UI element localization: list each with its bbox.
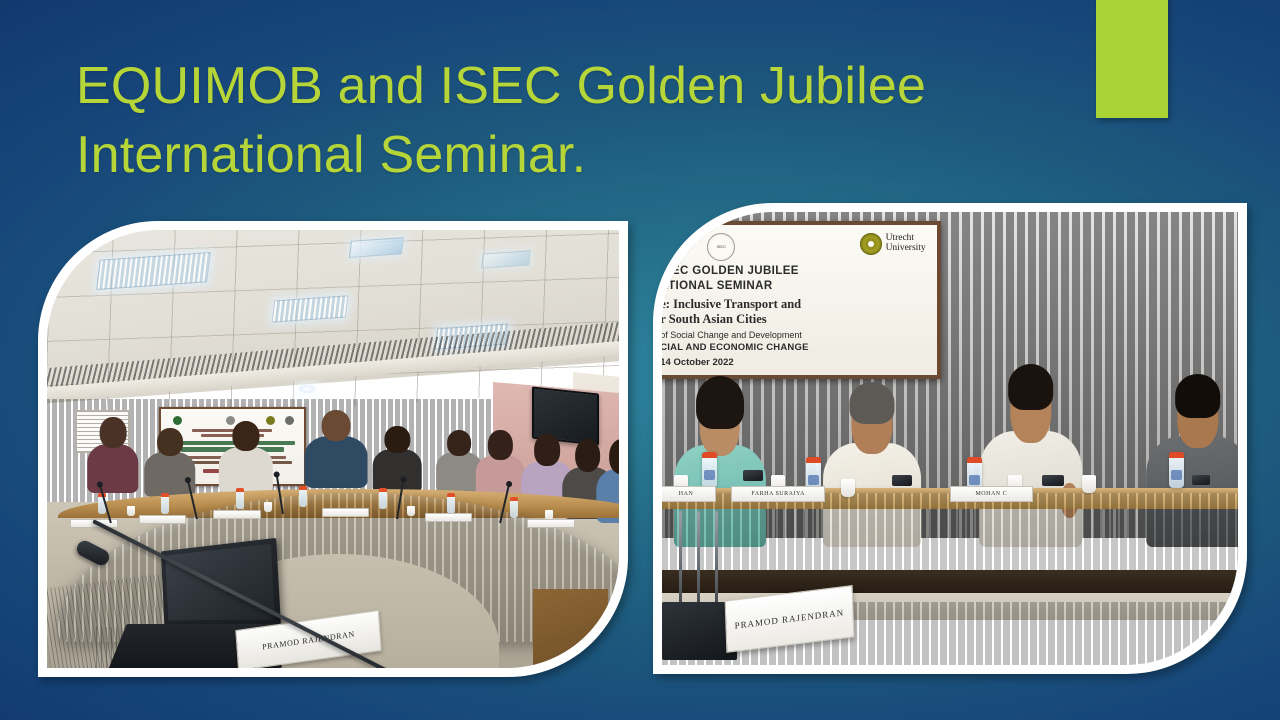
mic-stand — [679, 511, 682, 611]
photo-right-clip: ISEC Utrecht University ISEC GOLDEN JUBI… — [662, 212, 1238, 665]
utrecht-university-logo: Utrecht University — [860, 233, 926, 255]
photo-conference-room-wide[interactable]: PRAMOD RAJENDRAN — [38, 221, 628, 677]
water-bottle — [299, 486, 307, 507]
attendee — [87, 418, 138, 492]
table-nameplate: HAN — [662, 486, 716, 502]
banner-line-4: r South Asian Cities — [662, 312, 937, 327]
foreground-nameplate-text: PRAMOD RAJENDRAN — [735, 607, 845, 630]
paper-cup — [264, 502, 272, 512]
microphone-base — [1192, 475, 1210, 485]
water-bottle — [510, 497, 518, 518]
table-nameplate-text: FARHA SURAIYA — [751, 491, 805, 497]
table-nameplate — [425, 513, 473, 522]
left-scene: PRAMOD RAJENDRAN — [47, 230, 619, 668]
microphone-base — [892, 475, 912, 486]
table-nameplate-text: HAN — [679, 491, 694, 497]
table-nameplate-text: MOHAN C — [975, 491, 1007, 497]
water-bottle — [161, 493, 169, 514]
banner-line-2: ATIONAL SEMINAR — [662, 280, 937, 292]
attendee-head — [385, 426, 410, 454]
attendee-body — [87, 444, 138, 493]
speaker-hair — [1008, 364, 1054, 410]
banner-line-1: ISEC GOLDEN JUBILEE — [662, 265, 937, 277]
banner-logo-icon — [173, 416, 182, 425]
paper-cup — [1082, 475, 1096, 493]
attendee-body — [436, 452, 482, 492]
page-title: EQUIMOB and ISEC Golden Jubilee Internat… — [76, 52, 1076, 190]
table-nameplate — [527, 519, 575, 528]
attendee-head — [321, 410, 350, 442]
right-scene: ISEC Utrecht University ISEC GOLDEN JUBI… — [662, 212, 1238, 665]
table-nameplate: FARHA SURAIYA — [731, 486, 825, 502]
table-nameplate — [213, 510, 261, 519]
table-nameplate — [139, 515, 187, 524]
water-bottle — [236, 488, 244, 509]
banner-line-6: CIAL AND ECONOMIC CHANGE — [662, 342, 937, 353]
attendee-head — [535, 434, 561, 465]
paper-cup — [127, 506, 135, 516]
microphone-base — [1042, 475, 1064, 486]
photo-left-clip: PRAMOD RAJENDRAN — [47, 230, 619, 668]
seminar-banner-right: ISEC Utrecht University ISEC GOLDEN JUBI… — [662, 221, 941, 378]
attendee-head — [447, 430, 471, 456]
speaker-hair — [696, 376, 744, 429]
green-accent-rectangle — [1096, 0, 1168, 118]
water-bottle — [379, 488, 387, 509]
mic-stand — [715, 511, 718, 611]
water-bottle — [1169, 452, 1184, 488]
attendee — [373, 427, 422, 493]
table-nameplate: MOHAN C — [950, 486, 1033, 502]
attendee-speaking — [304, 410, 367, 489]
ceiling-light-panel — [349, 237, 405, 258]
presentation-slide: EQUIMOB and ISEC Golden Jubilee Internat… — [0, 0, 1280, 720]
paper-cup — [841, 479, 855, 497]
attendee-head — [99, 417, 126, 448]
attendee — [219, 423, 273, 493]
attendee-body — [219, 447, 273, 493]
paper-cup — [407, 506, 415, 516]
attendee-head — [232, 421, 259, 450]
water-bottle — [447, 493, 455, 514]
speaker-hair — [1175, 374, 1221, 418]
attendee-head — [157, 428, 183, 457]
table-nameplate — [322, 508, 370, 517]
banner-line-3: e: Inclusive Transport and — [662, 297, 937, 312]
utrecht-university-text: Utrecht University — [886, 234, 926, 253]
foreground-mic-stands — [679, 511, 731, 611]
attendee-body — [144, 452, 195, 497]
mic-stand — [697, 511, 700, 611]
water-bottle — [702, 452, 717, 488]
utrecht-line2: University — [886, 243, 926, 253]
banner-line-5: of Social Change and Development — [662, 330, 937, 340]
isec-seal-icon: ISEC — [707, 233, 735, 261]
microphone-base — [743, 470, 763, 481]
attendee-body — [373, 449, 422, 492]
photo-panel-speakers[interactable]: ISEC Utrecht University ISEC GOLDEN JUBI… — [653, 203, 1247, 674]
foreground-desk — [533, 589, 607, 668]
banner-logo-icon — [285, 416, 294, 425]
utrecht-sun-icon — [860, 233, 882, 255]
attendee-head — [488, 430, 512, 459]
utrecht-line1: Utrecht — [886, 233, 915, 243]
attendee-body — [304, 436, 367, 488]
attendee — [436, 432, 482, 493]
speaker-hair — [850, 382, 895, 424]
